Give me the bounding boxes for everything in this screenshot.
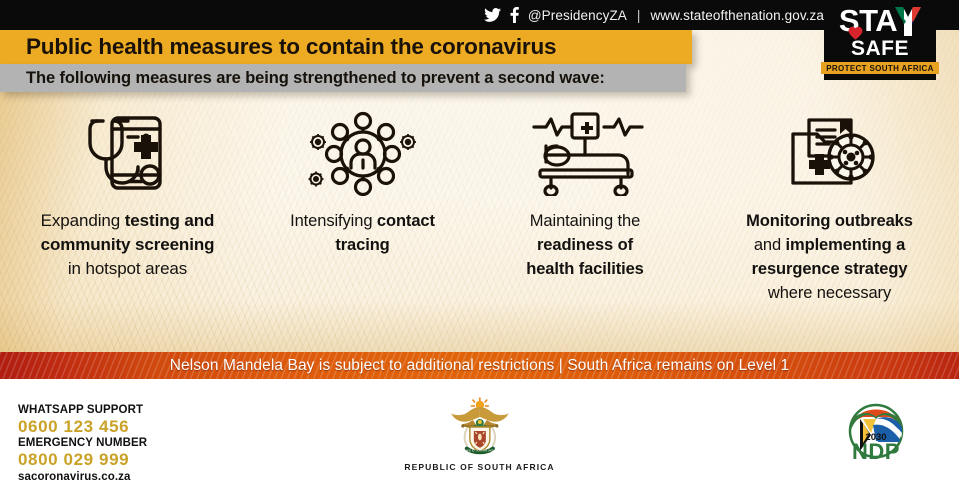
measure-item-testing: Expanding testing and community screenin… (0, 104, 255, 319)
footer: WHATSAPP SUPPORT 0600 123 456 EMERGENCY … (0, 379, 959, 480)
contact-details-group: WHATSAPP SUPPORT 0600 123 456 EMERGENCY … (18, 405, 147, 480)
twitter-bird-icon[interactable] (484, 8, 501, 22)
stay-safe-logo: STA (824, 2, 936, 80)
m4-line2-regular: and (754, 236, 786, 254)
m4-line1-bold: Monitoring outbreaks (746, 212, 913, 230)
m2-line2-bold: tracing (335, 236, 389, 254)
subtitle-bar: The following measures are being strengt… (0, 64, 686, 92)
measure-item-health-facilities: Maintaining the readiness of health faci… (470, 104, 700, 319)
mobile-health-screening-icon (76, 104, 180, 199)
top-social-bar: @PresidencyZA | www.stateofthenation.gov… (0, 0, 959, 30)
measure-text-health-facilities: Maintaining the readiness of health faci… (518, 209, 652, 281)
m3-line2-bold: readiness of (537, 236, 633, 254)
stay-safe-top-row: STA (839, 7, 921, 37)
m2-line1-regular: Intensifying (290, 212, 377, 230)
measure-text-testing: Expanding testing and community screenin… (33, 209, 223, 281)
coat-of-arms-group: !KE E: /XARRA //KE REPUBLIC OF SOUTH AFR… (404, 397, 554, 472)
ndp-2030-logo: 2030 NDP (833, 403, 919, 465)
restrictions-banner: Nelson Mandela Bay is subject to additio… (0, 352, 959, 379)
heart-icon (848, 26, 863, 40)
m1-line3-regular: in hotspot areas (68, 259, 187, 278)
whatsapp-support-number[interactable]: 0600 123 456 (18, 418, 147, 436)
emergency-number-label: EMERGENCY NUMBER (18, 438, 147, 450)
measure-text-monitoring: Monitoring outbreaks and implementing a … (738, 209, 921, 305)
m2-line1-bold: contact (377, 212, 435, 230)
presidency-handle[interactable]: @PresidencyZA (528, 8, 627, 23)
m4-line3-bold: resurgence strategy (752, 260, 908, 278)
main-title-bar: Public health measures to contain the co… (0, 30, 692, 64)
emergency-number-value[interactable]: 0800 029 999 (18, 451, 147, 469)
south-africa-coat-of-arms-icon: !KE E: /XARRA //KE (404, 397, 554, 459)
header-separator: | (636, 8, 642, 23)
m1-line1-bold: testing and (125, 211, 215, 230)
restrictions-banner-text: Nelson Mandela Bay is subject to additio… (170, 357, 790, 375)
m1-line2-bold: community screening (41, 235, 215, 254)
coat-of-arms-caption: REPUBLIC OF SOUTH AFRICA (404, 462, 554, 472)
social-handles-group: @PresidencyZA | www.stateofthenation.gov… (484, 0, 824, 30)
infographic-page: @PresidencyZA | www.stateofthenation.gov… (0, 0, 959, 480)
whatsapp-support-label: WHATSAPP SUPPORT (18, 405, 147, 417)
measures-row: Expanding testing and community screenin… (0, 104, 959, 319)
m4-line4-regular: where necessary (768, 284, 891, 302)
medical-records-virus-icon (779, 104, 881, 199)
hospital-bed-icon (526, 104, 644, 199)
header-website-url[interactable]: www.stateofthenation.gov.za (650, 8, 824, 23)
measure-item-contact-tracing: Intensifying contact tracing (255, 104, 470, 319)
protect-south-africa-tagline: PROTECT SOUTH AFRICA (821, 62, 939, 74)
m4-line2-bold: implementing a (786, 236, 906, 254)
page-subtitle: The following measures are being strengt… (26, 69, 605, 88)
page-title: Public health measures to contain the co… (26, 34, 556, 60)
measure-text-contact-tracing: Intensifying contact tracing (282, 209, 443, 257)
measure-item-monitoring: Monitoring outbreaks and implementing a … (700, 104, 959, 319)
m3-line3-bold: health facilities (526, 260, 644, 278)
facebook-f-icon[interactable] (510, 7, 519, 23)
footer-website-link[interactable]: sacoronavirus.co.za (18, 472, 147, 480)
stay-safe-safe-text: SAFE (851, 38, 909, 59)
sa-flag-y-letter (895, 7, 921, 36)
m3-line1-regular: Maintaining the (530, 212, 640, 230)
svg-text:!KE E: /XARRA //KE: !KE E: /XARRA //KE (466, 448, 494, 452)
contact-tracing-network-icon (307, 104, 419, 199)
m1-line1-regular: Expanding (41, 211, 125, 230)
ndp-label-text: NDP (852, 439, 900, 464)
